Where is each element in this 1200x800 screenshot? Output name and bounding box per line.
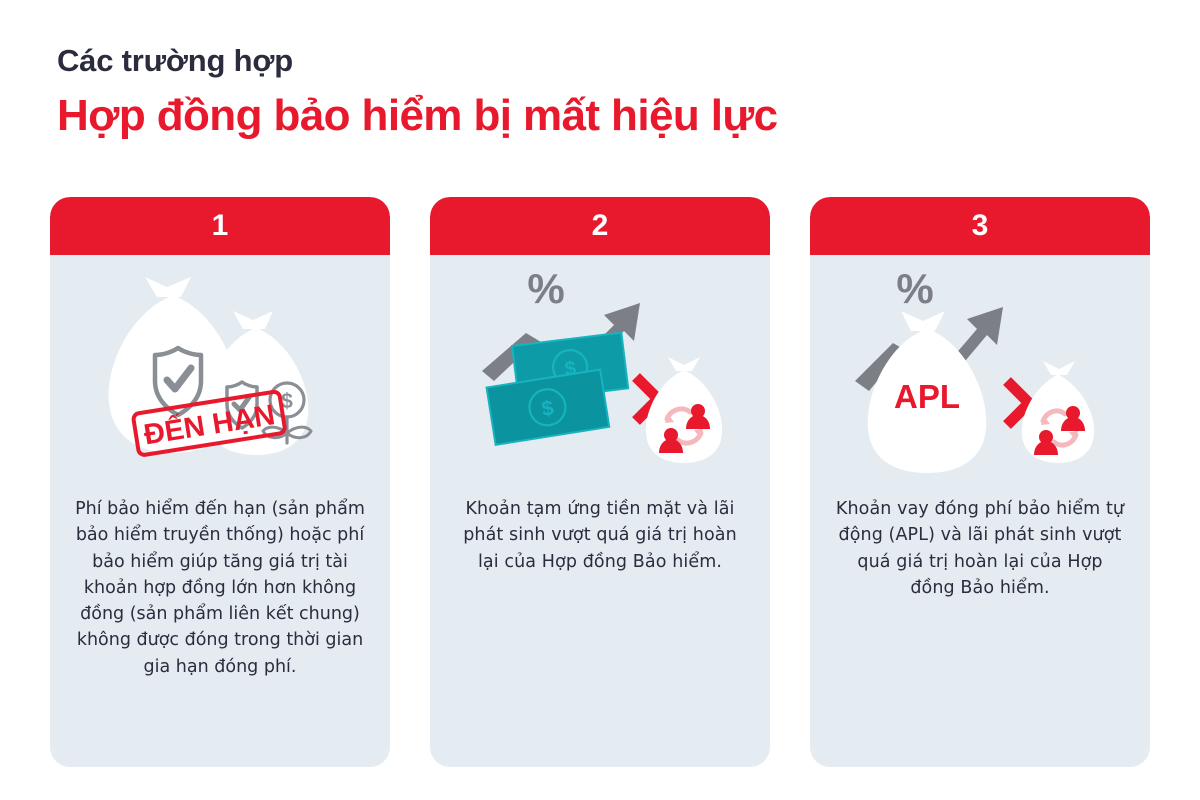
cash-advance-graphic: % $ (468, 263, 733, 488)
page-kicker: Các trường hợp (57, 42, 1147, 81)
money-bags-due-graphic: $ ĐẾN HẠN (95, 263, 345, 488)
card-2-body: Khoản tạm ứng tiền mặt và lãi phát sinh … (430, 490, 770, 767)
cards-row: 1 (50, 197, 1150, 767)
card-1-illustration: $ ĐẾN HẠN (50, 255, 390, 490)
card-2-number: 2 (592, 211, 609, 241)
card-3-body: Khoản vay đóng phí bảo hiểm tự động (APL… (810, 490, 1150, 767)
card-2-header: 2 (430, 197, 770, 255)
card-1-header: 1 (50, 197, 390, 255)
card-3-number: 3 (972, 211, 989, 241)
percent-symbol: % (527, 265, 564, 312)
card-3-header: 3 (810, 197, 1150, 255)
card-1-number: 1 (212, 211, 229, 241)
case-card-1[interactable]: 1 (50, 197, 390, 767)
money-bag-people-icon (645, 357, 721, 463)
card-3-text: Khoản vay đóng phí bảo hiểm tự động (APL… (834, 496, 1126, 601)
money-bag-apl-icon: APL (868, 311, 987, 473)
infographic-page: Các trường hợp Hợp đồng bảo hiểm bị mất … (0, 0, 1200, 800)
page-header: Các trường hợp Hợp đồng bảo hiểm bị mất … (57, 42, 1147, 142)
card-1-body: Phí bảo hiểm đến hạn (sản phẩm bảo hiểm … (50, 490, 390, 767)
apl-bag-label: APL (894, 378, 960, 415)
percent-symbol: % (896, 265, 933, 312)
card-2-text: Khoản tạm ứng tiền mặt và lãi phát sinh … (454, 496, 746, 575)
page-title: Hợp đồng bảo hiểm bị mất hiệu lực (57, 89, 1147, 143)
money-bag-people-icon (1022, 361, 1094, 463)
card-1-text: Phí bảo hiểm đến hạn (sản phẩm bảo hiểm … (74, 496, 366, 680)
case-card-2[interactable]: 2 % $ (430, 197, 770, 767)
apl-loan-graphic: % APL (849, 263, 1111, 488)
card-3-illustration: % APL (810, 255, 1150, 490)
card-2-illustration: % $ (430, 255, 770, 490)
case-card-3[interactable]: 3 % APL (810, 197, 1150, 767)
